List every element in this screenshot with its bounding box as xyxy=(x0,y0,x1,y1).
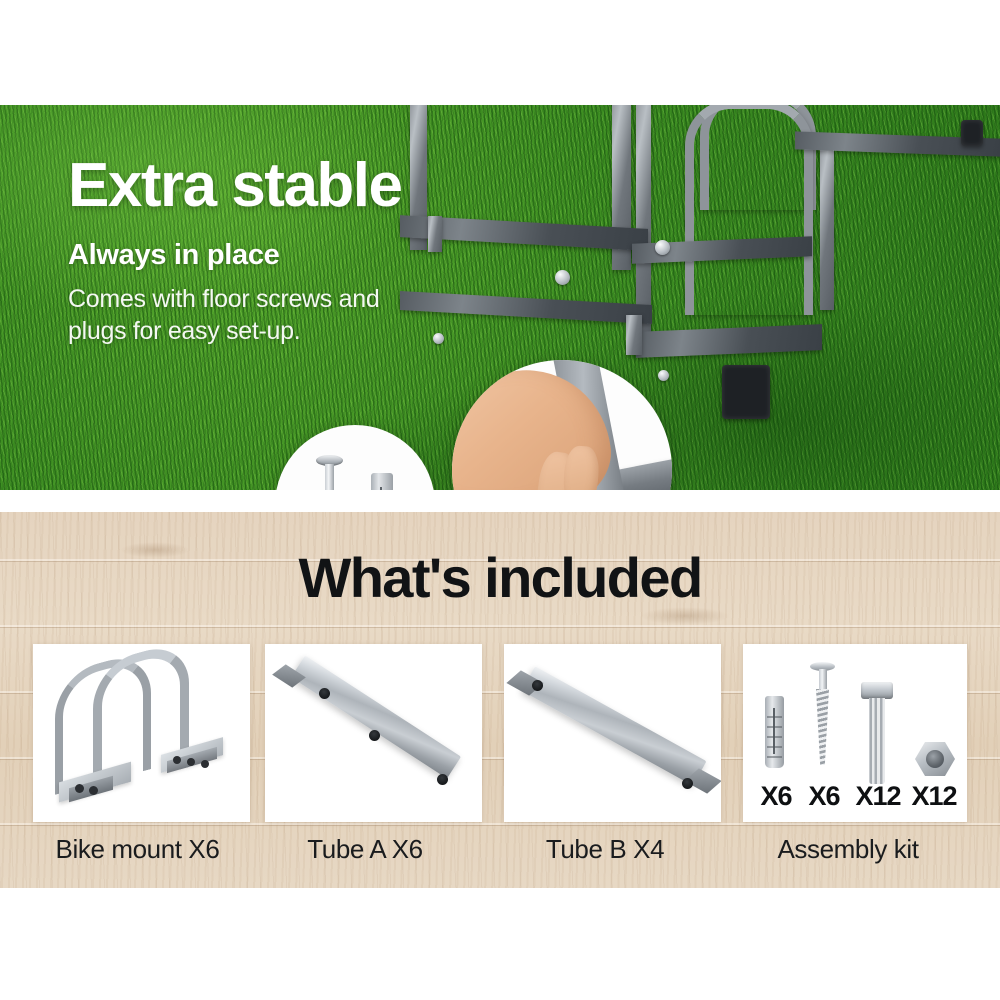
wall-plug-icon xyxy=(765,696,784,768)
tube-hole xyxy=(437,774,448,785)
hero-grass-section: Extra stable Always in place Comes with … xyxy=(0,105,1000,490)
item-label-tube-b: Tube B X4 xyxy=(490,834,720,865)
plate-hole xyxy=(89,786,98,795)
plate-hole xyxy=(75,784,84,793)
item-label-tube-a: Tube A X6 xyxy=(250,834,480,865)
included-item-card-tube-b[interactable] xyxy=(504,644,721,822)
rack-rail xyxy=(636,324,822,358)
plate-hole xyxy=(187,758,195,766)
rack-bolt xyxy=(655,240,670,255)
assembly-kit-illustration: X6 X6 X12 X12 xyxy=(743,644,967,822)
wall-plug-icon xyxy=(371,473,393,490)
wood-screw-qty: X6 xyxy=(799,781,849,812)
rack-bolt xyxy=(658,370,669,381)
hero-body-line-1: Comes with floor screws and xyxy=(68,284,468,316)
included-item-card-assembly-kit[interactable]: X6 X6 X12 X12 xyxy=(743,644,967,822)
included-item-card-tube-a[interactable] xyxy=(265,644,482,822)
hero-subtitle: Always in place xyxy=(68,239,468,272)
tube-hole xyxy=(319,688,330,699)
included-items-row: X6 X6 X12 X12 xyxy=(33,644,967,822)
hero-body-line-2: plugs for easy set-up. xyxy=(68,316,468,348)
bottom-white-band xyxy=(0,888,1000,1000)
plate-hole xyxy=(173,756,181,764)
rack-end-cap xyxy=(961,120,983,146)
tube-hole xyxy=(532,680,543,691)
rack-post xyxy=(820,140,834,310)
rack-end-cap xyxy=(722,365,770,419)
item-label-bike-mount: Bike mount X6 xyxy=(10,834,265,865)
wall-plug-qty: X6 xyxy=(751,781,801,812)
floor-screw-icon xyxy=(321,455,338,490)
wood-screw-icon xyxy=(815,662,830,767)
lock-nut-qty: X12 xyxy=(903,781,965,812)
rack-bolt xyxy=(555,270,570,285)
hex-bolt-icon xyxy=(868,682,886,787)
rack-hoop xyxy=(685,105,813,315)
screw-and-plug-closeup-circle xyxy=(275,425,435,490)
top-white-band xyxy=(0,0,1000,105)
lock-nut-icon xyxy=(915,742,955,776)
item-label-assembly-kit: Assembly kit xyxy=(728,834,968,865)
tube-body xyxy=(521,666,706,786)
tube-hole xyxy=(369,730,380,741)
middle-white-band xyxy=(0,490,1000,512)
included-item-card-bike-mount[interactable] xyxy=(33,644,250,822)
tube-a-illustration xyxy=(265,644,482,822)
rack-bracket xyxy=(626,315,642,355)
plate-hole xyxy=(201,760,209,768)
rack-post xyxy=(636,105,651,335)
included-heading: What's included xyxy=(0,545,1000,610)
tube-body xyxy=(291,655,461,778)
hex-bolt-qty: X12 xyxy=(847,781,909,812)
tube-hole xyxy=(682,778,693,789)
hero-title: Extra stable xyxy=(68,155,468,217)
hero-copy: Extra stable Always in place Comes with … xyxy=(68,155,468,348)
tube-b-illustration xyxy=(504,644,721,822)
bike-mount-illustration xyxy=(33,644,250,822)
product-feature-page: Extra stable Always in place Comes with … xyxy=(0,0,1000,1000)
